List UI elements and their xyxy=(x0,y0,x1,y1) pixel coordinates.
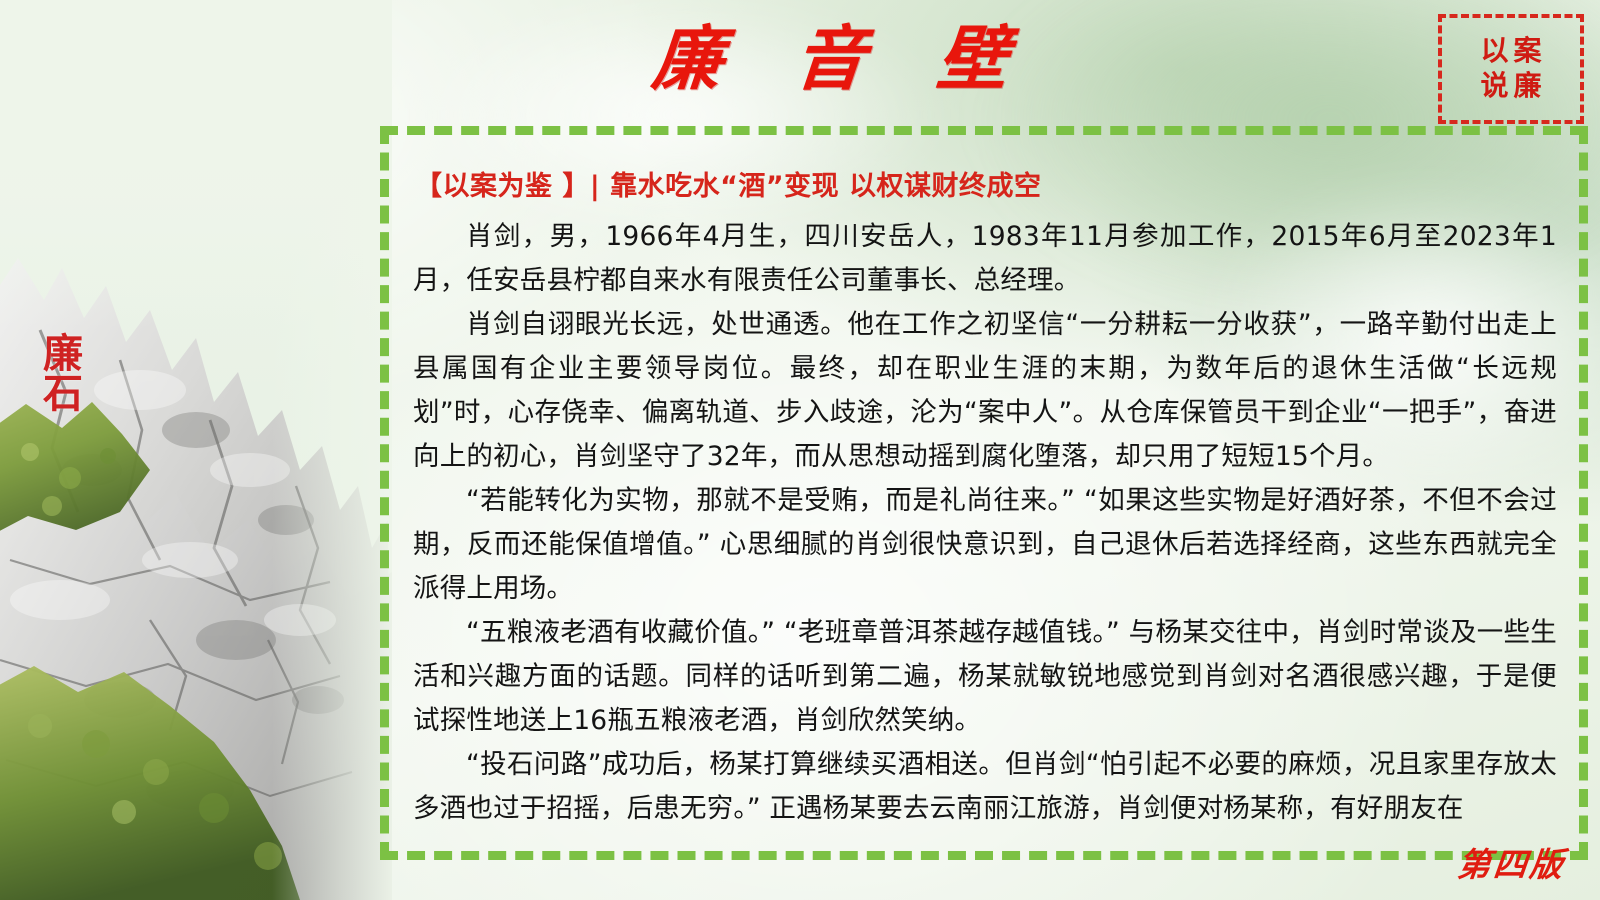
poster-page: 廉石 廉 音 壁 以案 说廉 【以案为鉴 】| 靠水吃水“酒”变现 以权谋财终成… xyxy=(0,0,1600,900)
article-paragraph: “投石问路”成功后，杨某打算继续买酒相送。但肖剑“怕引起不必要的麻烦，况且家里存… xyxy=(413,743,1557,831)
article-frame: 【以案为鉴 】| 靠水吃水“酒”变现 以权谋财终成空 肖剑，男，1966年4月生… xyxy=(380,126,1588,860)
corner-badge-line-2: 说廉 xyxy=(1475,71,1546,102)
page-title: 廉 音 壁 xyxy=(617,24,1043,94)
article-paragraph: 肖剑，男，1966年4月生，四川安岳人，1983年11月参加工作，2015年6月… xyxy=(413,215,1557,303)
rock-caption-lianshi: 廉石 xyxy=(24,332,82,412)
article-paragraph: 肖剑自诩眼光长远，处世通透。他在工作之初坚信“一分耕耘一分收获”，一路辛勤付出走… xyxy=(413,303,1557,479)
article-paragraph: “五粮液老酒有收藏价值。” “老班章普洱茶越存越值钱。” 与杨某交往中，肖剑时常… xyxy=(413,611,1557,743)
article-paragraph: “若能转化为实物，那就不是受贿，而是礼尚往来。” “如果这些实物是好酒好茶，不但… xyxy=(413,479,1557,611)
photo-right-fade xyxy=(272,0,392,900)
corner-badge-yiansnuanlian: 以案 说廉 xyxy=(1438,14,1584,124)
article-body: 肖剑，男，1966年4月生，四川安岳人，1983年11月参加工作，2015年6月… xyxy=(407,215,1561,831)
rock-photo xyxy=(0,0,392,900)
page-number-seal: 第四版 xyxy=(1455,838,1568,886)
article-headline: 【以案为鉴 】| 靠水吃水“酒”变现 以权谋财终成空 xyxy=(415,171,1561,203)
corner-badge-line-1: 以案 xyxy=(1475,36,1546,67)
